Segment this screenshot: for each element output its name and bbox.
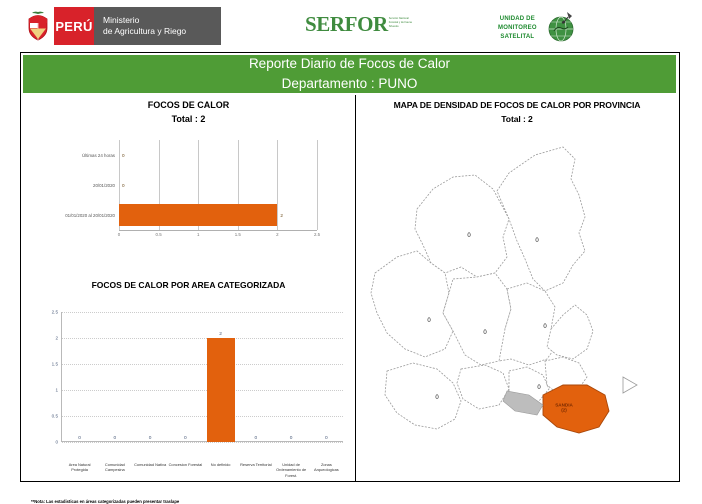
chart2-category-label: Comunidad Campesina — [97, 462, 133, 473]
peru-coat-of-arms-icon — [22, 7, 54, 45]
chart1-bar-row: 20/01/20200 — [119, 170, 317, 200]
chart2-value-label: 2 — [219, 332, 222, 337]
chart2-category-label: Zonas Arqueologicas — [308, 462, 344, 473]
chart2-category-label: Unidad de Ordenamiento de Forest. — [273, 462, 309, 478]
map-title: MAPA DE DENSIDAD DE FOCOS DE CALOR POR P… — [357, 99, 677, 127]
report-title: Reporte Diario de Focos de Calor — [249, 54, 450, 74]
chart2-value-label: 0 — [114, 436, 117, 441]
chart2-y-tick-label: 2 — [55, 336, 62, 341]
chart2-y-tick-label: 1 — [55, 388, 62, 393]
chart1-bar-row: 01/01/2020 al 20/01/20202 — [119, 200, 317, 230]
chart2-value-label: 0 — [325, 436, 328, 441]
chart2-plot-area: 00.511.522.50Area Natural Protegida0Comu… — [61, 312, 343, 442]
map-province-count: 0 — [483, 330, 486, 336]
chart1-x-tick-label: 2 — [276, 232, 278, 237]
chart2-bar-column: 0 — [238, 436, 274, 443]
map-title-line-1: MAPA DE DENSIDAD DE FOCOS DE CALOR POR P… — [357, 99, 677, 113]
ums-line-1: UNIDAD DE — [498, 15, 537, 24]
chart2-category-label: No definido — [203, 462, 239, 467]
chart1-bar-row: Últimas 24 horas0 — [119, 140, 317, 170]
chart2-y-tick-label: 2.5 — [52, 310, 62, 315]
province-sandia-highlight[interactable] — [543, 385, 609, 433]
ministry-line-1: Ministerio — [103, 15, 213, 26]
satellite-globe-icon — [544, 9, 578, 48]
chart2-value-label: 0 — [255, 436, 258, 441]
province-chucuito[interactable] — [457, 365, 509, 409]
chart1-gridline — [317, 140, 318, 230]
chart1-axis-line — [119, 230, 317, 231]
report-title-banner: Reporte Diario de Focos de Calor Departa… — [23, 55, 676, 93]
province-azangaro[interactable] — [443, 273, 511, 365]
ministry-line-2: de Agricultura y Riego — [103, 26, 213, 37]
serfor-logo: SERFOR Servicio Nacional Forestal y de F… — [305, 14, 413, 35]
map-province-count: 0 — [427, 318, 430, 324]
chart2-bar[interactable] — [207, 338, 235, 442]
chart1-title-line-1: FOCOS DE CALOR — [21, 99, 356, 113]
chart2-value-label: 0 — [149, 436, 152, 441]
chart1-value-label: 2 — [280, 213, 283, 218]
map-highlight-label: SANDIA (2) — [555, 402, 573, 413]
chart2-category-label: Comunidad Nativa — [132, 462, 168, 467]
map-direction-marker-icon — [623, 377, 637, 393]
chart2-bar-column: 0 — [167, 436, 203, 443]
chart1-x-tick-label: 2.5 — [314, 232, 320, 237]
chart2-title: FOCOS DE CALOR POR AREA CATEGORIZADA — [21, 280, 356, 290]
peru-wordmark: PERÚ — [54, 7, 94, 45]
monitoring-unit-logo: UNIDAD DE MONITOREO SATELITAL — [498, 9, 578, 48]
chart2-gridline — [62, 312, 343, 313]
report-frame: Reporte Diario de Focos de Calor Departa… — [20, 52, 680, 482]
serfor-subtext: Servicio Nacional Forestal y de Fauna Si… — [388, 14, 413, 29]
chart1-x-tick-label: 0 — [118, 232, 120, 237]
map-province-count: 0 — [535, 238, 538, 244]
ums-line-2: MONITOREO — [498, 24, 537, 33]
chart2-bar-column: 0 — [132, 436, 168, 443]
chart2-y-tick-label: 0.5 — [52, 414, 62, 419]
map-province-count: 0 — [543, 324, 546, 330]
chart1-x-tick-label: 1.5 — [235, 232, 241, 237]
page-header: PERÚ Ministerio de Agricultura y Riego S… — [0, 0, 702, 52]
chart2-bar-column: 0 — [273, 436, 309, 443]
chart2-category-label: Reserva Territorial — [238, 462, 274, 467]
chart1-title: FOCOS DE CALOR Total : 2 — [21, 99, 356, 126]
puno-provinces-map-svg[interactable] — [357, 133, 677, 463]
chart2-value-label: 0 — [78, 436, 81, 441]
chart2-value-label: 0 — [184, 436, 187, 441]
shield-svg — [27, 11, 49, 41]
chart1-x-tick-label: 0.5 — [156, 232, 162, 237]
province-puno[interactable] — [385, 363, 461, 429]
ums-line-3: SATELITAL — [498, 33, 537, 42]
right-panel: MAPA DE DENSIDAD DE FOCOS DE CALOR POR P… — [356, 95, 677, 481]
chart1-plot-area: Últimas 24 horas020/01/2020001/01/2020 a… — [119, 140, 317, 230]
map-title-line-2: Total : 2 — [357, 113, 677, 127]
serfor-wordmark: SERFOR — [305, 14, 388, 35]
province-putina[interactable] — [497, 147, 585, 291]
chart2-bar-column: 2 — [203, 332, 239, 443]
map-highlight-value: (2) — [555, 408, 573, 414]
chart2-category-label: Concesion Forestal — [167, 462, 203, 467]
density-map[interactable]: 0000000 SANDIA (2) — [357, 133, 677, 463]
chart1-category-label: 01/01/2020 al 20/01/2020 — [65, 213, 119, 218]
chart2-bar-column: 0 — [62, 436, 98, 443]
chart1-category-label: Últimas 24 horas — [82, 153, 119, 158]
footnote-note: **Nota: Las estadisticas en áreas catego… — [31, 499, 179, 504]
chart2-category-label: Area Natural Protegida — [62, 462, 98, 473]
chart1-bar[interactable] — [119, 204, 277, 226]
chart1-focos-de-calor: Últimas 24 horas020/01/2020001/01/2020 a… — [21, 138, 356, 258]
chart2-gridline — [62, 442, 343, 443]
monitoring-unit-text: UNIDAD DE MONITOREO SATELITAL — [498, 15, 537, 42]
chart1-title-line-2: Total : 2 — [21, 113, 356, 127]
chart2-bar-column: 0 — [308, 436, 344, 443]
report-subtitle: Departamento : PUNO — [282, 74, 418, 94]
chart2-y-tick-label: 1.5 — [52, 362, 62, 367]
ministry-logo: PERÚ Ministerio de Agricultura y Riego — [22, 7, 221, 45]
map-province-count: 0 — [537, 385, 540, 391]
map-province-count: 0 — [435, 395, 438, 401]
chart2-bar-column: 0 — [97, 436, 133, 443]
chart1-value-label: 0 — [122, 183, 125, 188]
map-province-count: 0 — [467, 233, 470, 239]
left-panel: FOCOS DE CALOR Total : 2 Últimas 24 hora… — [21, 95, 356, 481]
ministry-name: Ministerio de Agricultura y Riego — [94, 7, 221, 45]
globe-svg — [544, 9, 578, 43]
chart1-category-label: 20/01/2020 — [93, 183, 119, 188]
chart2-value-label: 0 — [290, 436, 293, 441]
chart1-x-tick-label: 1 — [197, 232, 199, 237]
chart2-focos-por-area: 00.511.522.50Area Natural Protegida0Comu… — [21, 296, 356, 486]
chart1-x-axis-ticks: 00.511.522.5 — [119, 232, 317, 244]
map-highlight-name: SANDIA — [555, 402, 573, 408]
chart1-value-label: 0 — [122, 153, 125, 158]
